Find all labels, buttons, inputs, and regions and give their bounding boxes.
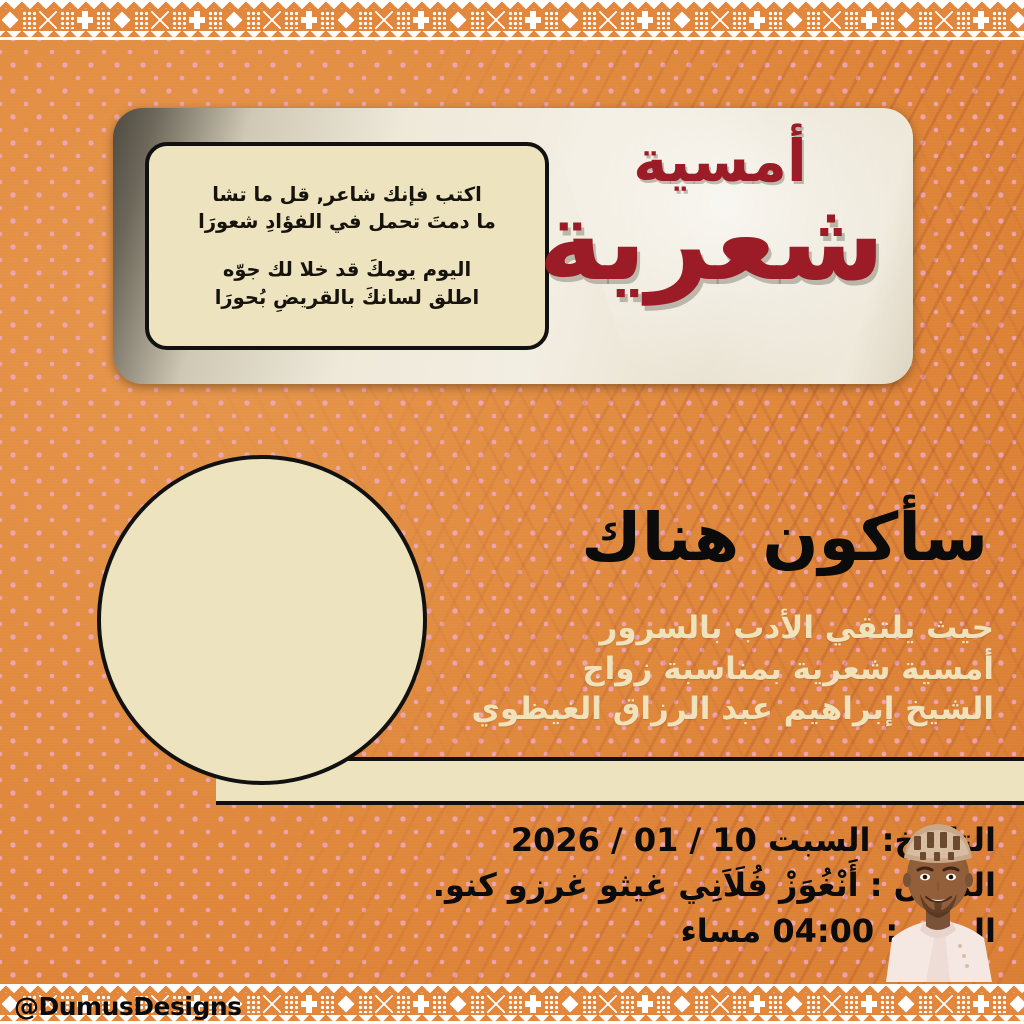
- subtitle-line: أمسية شعرية بمناسبة زواج: [471, 649, 994, 690]
- border-motif: [861, 11, 877, 29]
- border-motif: [785, 11, 803, 29]
- border-motif: [1, 11, 19, 29]
- border-motif: [749, 11, 765, 29]
- border-motif: [599, 995, 617, 1013]
- border-motif: [599, 11, 617, 29]
- watermark-handle: @DumusDesigns: [14, 992, 242, 1021]
- border-motif: [413, 11, 429, 29]
- border-motif: [673, 11, 691, 29]
- border-motif: [396, 11, 410, 29]
- border-motif: [673, 995, 691, 1013]
- poem-box: اكتب فإنك شاعر, قل ما تشا ما دمتَ تحمل ف…: [145, 142, 549, 350]
- border-motif: [732, 995, 746, 1013]
- calligraphy-title: أمسية شعرية: [555, 116, 885, 374]
- border-motif: [935, 995, 953, 1013]
- border-motif: [337, 995, 355, 1013]
- border-motif: [844, 11, 858, 29]
- border-motif: [320, 995, 334, 1013]
- border-motif: [694, 995, 708, 1013]
- subtitle-line: الشيخ إبراهيم عبد الرزاق الغيظوي: [471, 689, 994, 730]
- border-motif: [544, 11, 558, 29]
- poem-line: ما دمتَ تحمل في الفؤادِ شعورَا: [159, 208, 535, 236]
- border-motif: [992, 11, 1006, 29]
- border-motif: [134, 11, 148, 29]
- border-motif: [151, 11, 169, 29]
- border-rule: [0, 37, 1024, 40]
- border-motif: [620, 11, 634, 29]
- page-title: سأكون هناك: [581, 505, 988, 571]
- border-motif: [880, 995, 894, 1013]
- border-motif: [432, 995, 446, 1013]
- subtitle-block: حيث يلتقي الأدب بالسرور أمسية شعرية بمنا…: [471, 608, 994, 730]
- border-motif: [284, 995, 298, 1013]
- subtitle-line: حيث يلتقي الأدب بالسرور: [471, 608, 994, 649]
- border-motif: [1009, 11, 1024, 29]
- border-motif: [768, 11, 782, 29]
- border-motif: [561, 11, 579, 29]
- border-motif: [508, 995, 522, 1013]
- border-motif: [935, 11, 953, 29]
- border-motif: [172, 11, 186, 29]
- border-motif: [694, 11, 708, 29]
- border-motif: [508, 11, 522, 29]
- border-motif: [711, 11, 729, 29]
- border-motif: [358, 11, 372, 29]
- border-motif: [973, 995, 989, 1013]
- border-motif: [301, 11, 317, 29]
- border-motif: [620, 995, 634, 1013]
- border-motif: [284, 11, 298, 29]
- border-motif: [544, 995, 558, 1013]
- border-motif: [897, 995, 915, 1013]
- border-motif: [337, 11, 355, 29]
- border-motif: [656, 11, 670, 29]
- poem-line: اليوم يومكَ قد خلا لك جوّه: [159, 256, 535, 284]
- border-motif: [973, 11, 989, 29]
- border-motif: [320, 11, 334, 29]
- border-motif: [711, 995, 729, 1013]
- poster-canvas: اكتب فإنك شاعر, قل ما تشا ما دمتَ تحمل ف…: [0, 0, 1024, 1024]
- border-motif: [656, 995, 670, 1013]
- border-motif: [449, 995, 467, 1013]
- border-motif: [375, 11, 393, 29]
- border-motif: [806, 995, 820, 1013]
- border-motif: [246, 995, 260, 1013]
- border-motif: [582, 11, 596, 29]
- border-motif: [956, 11, 970, 29]
- border-motif: [396, 995, 410, 1013]
- border-motif: [525, 995, 541, 1013]
- border-motif: [60, 11, 74, 29]
- border-motif: [582, 995, 596, 1013]
- border-motif-row: [0, 9, 1024, 31]
- poem-stanza: اكتب فإنك شاعر, قل ما تشا ما دمتَ تحمل ف…: [159, 181, 535, 236]
- border-motif: [861, 995, 877, 1013]
- tribal-border-top: [0, 0, 1024, 40]
- border-motif: [487, 995, 505, 1013]
- border-motif: [470, 995, 484, 1013]
- border-motif: [732, 11, 746, 29]
- border-motif: [263, 11, 281, 29]
- border-motif: [470, 11, 484, 29]
- border-motif: [561, 995, 579, 1013]
- border-motif: [768, 995, 782, 1013]
- calligraphy-line-2: شعرية: [555, 184, 885, 300]
- border-motif: [487, 11, 505, 29]
- border-motif: [375, 995, 393, 1013]
- border-motif: [897, 11, 915, 29]
- border-motif: [22, 11, 36, 29]
- border-motif: [823, 995, 841, 1013]
- border-motif: [113, 11, 131, 29]
- border-motif: [785, 995, 803, 1013]
- border-motif: [749, 995, 765, 1013]
- border-motif: [956, 995, 970, 1013]
- border-motif: [637, 995, 653, 1013]
- border-motif: [844, 995, 858, 1013]
- border-motif: [39, 11, 57, 29]
- border-motif: [96, 11, 110, 29]
- border-motif: [301, 995, 317, 1013]
- border-motif: [358, 995, 372, 1013]
- border-motif: [208, 11, 222, 29]
- border-motif: [918, 995, 932, 1013]
- border-motif: [880, 11, 894, 29]
- poem-line: اطلق لسانكَ بالقريضِ بُحورَا: [159, 284, 535, 312]
- poem-line: اكتب فإنك شاعر, قل ما تشا: [159, 181, 535, 209]
- person-portrait: [874, 810, 1004, 982]
- border-motif: [525, 11, 541, 29]
- poem-stanza: اليوم يومكَ قد خلا لك جوّه اطلق لسانكَ ب…: [159, 256, 535, 311]
- border-motif: [1009, 995, 1024, 1013]
- border-motif: [449, 11, 467, 29]
- border-motif: [413, 995, 429, 1013]
- border-motif: [189, 11, 205, 29]
- border-motif: [77, 11, 93, 29]
- border-motif: [246, 11, 260, 29]
- border-motif: [806, 11, 820, 29]
- border-motif: [225, 11, 243, 29]
- circle-photo-placeholder: [97, 455, 427, 785]
- border-motif: [637, 11, 653, 29]
- border-motif: [263, 995, 281, 1013]
- border-motif: [823, 11, 841, 29]
- border-motif: [992, 995, 1006, 1013]
- border-motif: [918, 11, 932, 29]
- header-panel: اكتب فإنك شاعر, قل ما تشا ما دمتَ تحمل ف…: [113, 108, 913, 384]
- border-motif: [432, 11, 446, 29]
- border-zigzag: [0, 2, 1024, 9]
